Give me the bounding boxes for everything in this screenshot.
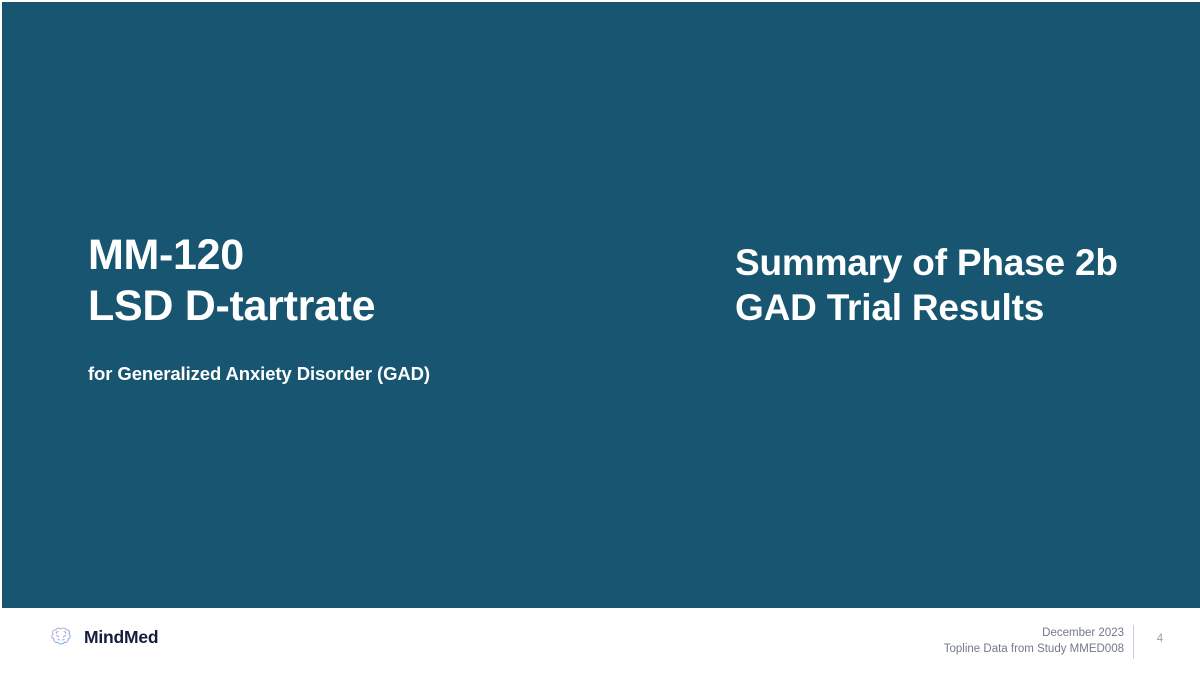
slide-source: Topline Data from Study MMED008 xyxy=(944,642,1124,658)
slide-hero-panel: MM-120 LSD D-tartrate for Generalized An… xyxy=(2,2,1200,608)
company-logo: MindMed xyxy=(48,624,158,650)
presentation-slide: MM-120 LSD D-tartrate for Generalized An… xyxy=(0,0,1200,675)
slide-metadata: December 2023 Topline Data from Study MM… xyxy=(944,626,1124,657)
product-name-line1: MM-120 xyxy=(88,230,668,281)
footer-divider xyxy=(1133,625,1134,659)
product-name-line2: LSD D-tartrate xyxy=(88,281,668,332)
brain-icon xyxy=(48,624,74,650)
slide-title-line1: Summary of Phase 2b xyxy=(735,240,1175,285)
company-name-label: MindMed xyxy=(84,626,158,648)
slide-title-line2: GAD Trial Results xyxy=(735,285,1175,330)
right-title-block: Summary of Phase 2b GAD Trial Results xyxy=(735,240,1175,330)
slide-date: December 2023 xyxy=(944,626,1124,642)
page-number: 4 xyxy=(1144,632,1176,647)
product-indication-subtitle: for Generalized Anxiety Disorder (GAD) xyxy=(88,362,668,386)
left-title-block: MM-120 LSD D-tartrate for Generalized An… xyxy=(88,230,668,386)
